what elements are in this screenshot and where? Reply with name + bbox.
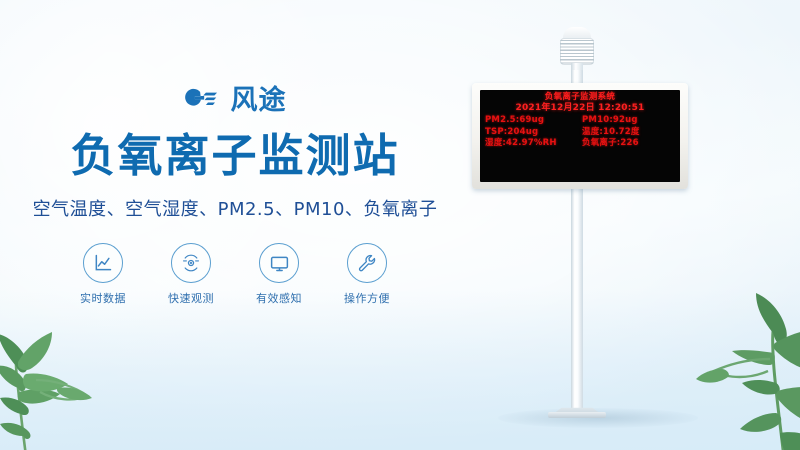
feature-label: 有效感知: [248, 290, 310, 306]
feature-label: 操作方便: [336, 290, 398, 306]
line-chart-icon: [93, 253, 113, 273]
wrench-icon: [357, 253, 377, 273]
pole-base-plate: [548, 412, 606, 418]
hero-subtitle: 空气温度、空气湿度、PM2.5、PM10、负氧离子: [0, 195, 470, 221]
feature-icon-circle: [347, 243, 387, 283]
feature-icon-circle: [171, 243, 211, 283]
hero-text-block: 风途 负氧离子监测站 空气温度、空气湿度、PM2.5、PM10、负氧离子 实时数…: [0, 80, 470, 306]
feature-item-effective-sensing[interactable]: 有效感知: [248, 243, 310, 306]
led-reading-negative-oxygen-ions: 负氧离子:226: [582, 138, 675, 149]
led-reading-pm25: PM2.5:69ug: [485, 115, 578, 126]
sensor-louvers: [560, 38, 594, 65]
led-reading-humidity: 湿度:42.97%RH: [485, 138, 578, 149]
ground-shadow: [498, 408, 698, 428]
led-screen-title: 负氧离子监测系统: [485, 93, 675, 103]
radar-eye-icon: [181, 253, 201, 273]
led-screen-datetime: 2021年12月22日 12:20:51: [485, 103, 675, 115]
monitor-icon: [269, 253, 290, 274]
brand-name: 风途: [231, 87, 287, 114]
led-screen: 负氧离子监测系统 2021年12月22日 12:20:51 PM2.5:69ug…: [480, 90, 680, 182]
fengtu-g-logo-icon: [184, 86, 222, 114]
led-reading-pm10: PM10:92ug: [582, 115, 675, 126]
feature-item-fast-observation[interactable]: 快速观测: [160, 243, 222, 306]
led-reading-temperature: 温度:10.72度: [582, 127, 675, 138]
feature-icon-circle: [83, 243, 123, 283]
led-reading-tsp: TSP:204ug: [485, 127, 578, 138]
brand-logo: 风途: [0, 80, 470, 120]
feature-label: 快速观测: [160, 290, 222, 306]
promo-banner: 风途 负氧离子监测站 空气温度、空气湿度、PM2.5、PM10、负氧离子 实时数…: [0, 0, 800, 450]
page-title: 负氧离子监测站: [0, 131, 470, 181]
feature-item-easy-operation[interactable]: 操作方便: [336, 243, 398, 306]
green-plant-leaves-icon: [0, 296, 142, 450]
led-display-panel[interactable]: 负氧离子监测系统 2021年12月22日 12:20:51 PM2.5:69ug…: [472, 83, 688, 189]
green-plant-leaves-icon: [676, 273, 800, 450]
feature-icon-circle: [259, 243, 299, 283]
led-reading-grid: PM2.5:69ug PM10:92ug TSP:204ug 温度:10.72度…: [485, 115, 675, 149]
